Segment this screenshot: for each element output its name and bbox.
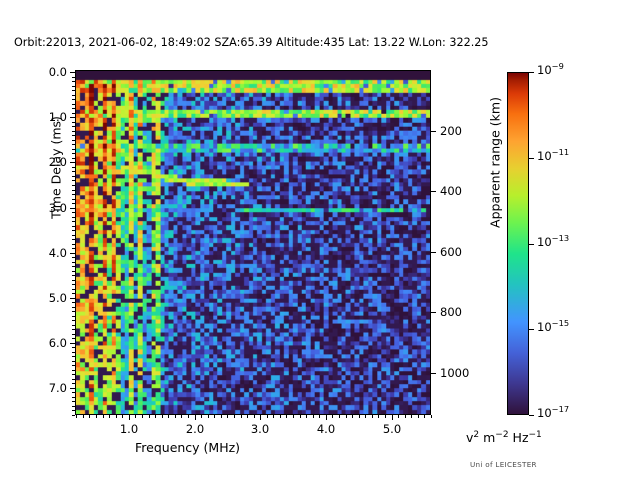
axis-tick xyxy=(72,275,75,276)
x-axis-label: Frequency (MHz) xyxy=(135,440,240,455)
axis-tick xyxy=(188,415,189,418)
axis-tick xyxy=(72,347,75,348)
axis-tick xyxy=(313,415,314,418)
axis-tick xyxy=(72,167,75,168)
axis-tick xyxy=(72,81,75,82)
right-axis-label: Apparent range (km) xyxy=(488,58,503,268)
axis-tick xyxy=(72,284,75,285)
axis-tick xyxy=(411,415,412,418)
axis-tick xyxy=(208,415,209,418)
axis-tick xyxy=(72,230,75,231)
axis-tick xyxy=(72,302,75,303)
axis-tick xyxy=(293,415,294,418)
axis-tick xyxy=(72,374,75,375)
axis-tick xyxy=(72,383,75,384)
axis-tick-label: 600 xyxy=(440,245,462,259)
axis-tick-label: 1.0 xyxy=(120,422,138,436)
axis-tick xyxy=(72,320,75,321)
axis-tick xyxy=(72,153,75,154)
axis-tick-label: 2.0 xyxy=(186,422,204,436)
axis-tick xyxy=(72,171,75,172)
axis-tick-label: 3.0 xyxy=(251,422,269,436)
axis-tick xyxy=(76,415,77,418)
axis-tick xyxy=(405,415,406,418)
axis-tick xyxy=(372,415,373,418)
axis-tick-label: 200 xyxy=(440,124,462,138)
axis-tick xyxy=(72,185,75,186)
axis-tick xyxy=(72,370,75,371)
axis-tick xyxy=(96,415,97,418)
axis-tick xyxy=(359,415,360,418)
axis-tick xyxy=(332,415,333,418)
axis-tick xyxy=(72,361,75,362)
axis-tick xyxy=(392,415,393,420)
axis-tick xyxy=(72,212,75,213)
institution-credit: Uni of LEICESTER xyxy=(470,460,537,469)
axis-tick-label: 400 xyxy=(440,184,462,198)
axis-tick xyxy=(300,415,301,418)
axis-tick xyxy=(72,410,75,411)
axis-tick xyxy=(72,289,75,290)
axis-tick xyxy=(70,388,75,389)
axis-tick xyxy=(70,72,75,73)
axis-tick xyxy=(378,415,379,418)
axis-tick-label: 4.0 xyxy=(317,422,335,436)
axis-tick xyxy=(72,140,75,141)
axis-tick xyxy=(122,415,123,418)
axis-tick-label: 4.0 xyxy=(49,246,67,260)
axis-tick xyxy=(431,373,436,374)
axis-tick xyxy=(72,104,75,105)
axis-tick xyxy=(72,365,75,366)
axis-tick-label: 1000 xyxy=(440,366,469,380)
axis-tick xyxy=(72,149,75,150)
colorbar-tick xyxy=(529,72,534,73)
axis-tick xyxy=(221,415,222,418)
colorbar[interactable] xyxy=(507,72,529,415)
axis-tick xyxy=(72,176,75,177)
axis-tick xyxy=(72,244,75,245)
axis-tick-label: 0.0 xyxy=(49,65,67,79)
axis-tick xyxy=(254,415,255,418)
axis-tick xyxy=(129,415,130,420)
axis-tick-label: 1.0 xyxy=(49,110,67,124)
axis-tick-label: 6.0 xyxy=(49,336,67,350)
axis-tick xyxy=(72,257,75,258)
axis-tick-label: 2.0 xyxy=(49,155,67,169)
axis-tick xyxy=(431,131,436,132)
colorbar-tick-label: 10−17 xyxy=(537,406,569,420)
axis-tick xyxy=(346,415,347,418)
axis-tick xyxy=(72,217,75,218)
axis-tick xyxy=(142,415,143,418)
axis-tick xyxy=(72,401,75,402)
axis-tick xyxy=(72,221,75,222)
axis-tick xyxy=(431,191,436,192)
axis-tick xyxy=(89,415,90,418)
axis-tick xyxy=(247,415,248,418)
axis-tick xyxy=(72,180,75,181)
axis-tick xyxy=(72,415,75,416)
ionogram-heatmap-image xyxy=(76,71,430,414)
axis-tick xyxy=(72,325,75,326)
axis-tick xyxy=(72,392,75,393)
colorbar-tick-label: 10−13 xyxy=(537,235,569,249)
axis-tick xyxy=(155,415,156,418)
axis-tick xyxy=(72,316,75,317)
axis-tick-label: 7.0 xyxy=(49,381,67,395)
axis-tick-label: 3.0 xyxy=(49,201,67,215)
axis-tick xyxy=(72,190,75,191)
colorbar-tick xyxy=(529,158,534,159)
axis-tick xyxy=(72,406,75,407)
axis-tick xyxy=(70,298,75,299)
axis-tick xyxy=(72,108,75,109)
axis-tick-label: 800 xyxy=(440,305,462,319)
axis-tick xyxy=(72,235,75,236)
axis-tick xyxy=(168,415,169,418)
axis-tick xyxy=(72,135,75,136)
axis-tick xyxy=(181,415,182,418)
axis-tick xyxy=(72,379,75,380)
axis-tick xyxy=(109,415,110,418)
axis-tick xyxy=(72,334,75,335)
axis-tick xyxy=(162,415,163,418)
axis-tick xyxy=(214,415,215,418)
axis-tick xyxy=(72,158,75,159)
axis-tick xyxy=(72,99,75,100)
axis-tick xyxy=(72,311,75,312)
axis-tick xyxy=(431,415,432,418)
axis-tick xyxy=(72,86,75,87)
axis-tick xyxy=(72,248,75,249)
axis-tick xyxy=(72,239,75,240)
axis-tick xyxy=(72,113,75,114)
colorbar-tick xyxy=(529,415,534,416)
axis-tick xyxy=(260,415,261,420)
axis-tick xyxy=(241,415,242,418)
axis-tick xyxy=(431,252,436,253)
axis-tick xyxy=(195,415,196,420)
axis-tick xyxy=(72,194,75,195)
axis-tick xyxy=(72,280,75,281)
axis-tick xyxy=(424,415,425,418)
axis-tick xyxy=(149,415,150,418)
axis-tick xyxy=(103,415,104,418)
axis-tick xyxy=(286,415,287,418)
ionogram-heatmap-axes[interactable] xyxy=(75,70,431,415)
axis-tick xyxy=(70,162,75,163)
axis-tick xyxy=(227,415,228,418)
axis-tick-label: 5.0 xyxy=(49,291,67,305)
axis-tick xyxy=(273,415,274,418)
axis-tick xyxy=(326,415,327,420)
figure-title: Orbit:22013, 2021-06-02, 18:49:02 SZA:65… xyxy=(14,36,514,49)
axis-tick xyxy=(72,131,75,132)
axis-tick xyxy=(431,312,436,313)
axis-tick xyxy=(72,271,75,272)
axis-tick xyxy=(72,122,75,123)
axis-tick xyxy=(385,415,386,418)
axis-tick xyxy=(72,226,75,227)
axis-tick xyxy=(70,343,75,344)
axis-tick xyxy=(418,415,419,418)
axis-tick xyxy=(70,117,75,118)
axis-tick xyxy=(83,415,84,418)
axis-tick xyxy=(70,253,75,254)
axis-tick xyxy=(116,415,117,418)
axis-tick xyxy=(72,90,75,91)
axis-tick-label: 5.0 xyxy=(383,422,401,436)
axis-tick xyxy=(398,415,399,418)
axis-tick xyxy=(72,199,75,200)
axis-tick xyxy=(339,415,340,418)
colorbar-tick-label: 10−11 xyxy=(537,149,569,163)
axis-tick xyxy=(72,266,75,267)
axis-tick xyxy=(201,415,202,418)
axis-tick xyxy=(234,415,235,418)
axis-tick xyxy=(135,415,136,418)
axis-tick xyxy=(72,95,75,96)
axis-tick xyxy=(70,208,75,209)
colorbar-tick-label: 10−9 xyxy=(537,63,564,77)
colorbar-tick-label: 10−15 xyxy=(537,320,569,334)
axis-tick xyxy=(72,77,75,78)
axis-tick xyxy=(72,293,75,294)
axis-tick xyxy=(175,415,176,418)
axis-tick xyxy=(352,415,353,418)
axis-tick xyxy=(319,415,320,418)
colorbar-units-label: v2 m−2 Hz−1 xyxy=(466,430,542,445)
axis-tick xyxy=(72,329,75,330)
axis-tick xyxy=(306,415,307,418)
ionogram-figure: Orbit:22013, 2021-06-02, 18:49:02 SZA:65… xyxy=(0,0,640,480)
axis-tick xyxy=(72,352,75,353)
axis-tick xyxy=(72,144,75,145)
axis-tick xyxy=(72,262,75,263)
axis-tick xyxy=(365,415,366,418)
axis-tick xyxy=(72,356,75,357)
axis-tick xyxy=(72,338,75,339)
axis-tick xyxy=(280,415,281,418)
axis-tick xyxy=(267,415,268,418)
axis-tick xyxy=(72,203,75,204)
axis-tick xyxy=(72,307,75,308)
axis-tick xyxy=(72,397,75,398)
axis-tick xyxy=(72,126,75,127)
colorbar-tick xyxy=(529,244,534,245)
colorbar-tick xyxy=(529,329,534,330)
